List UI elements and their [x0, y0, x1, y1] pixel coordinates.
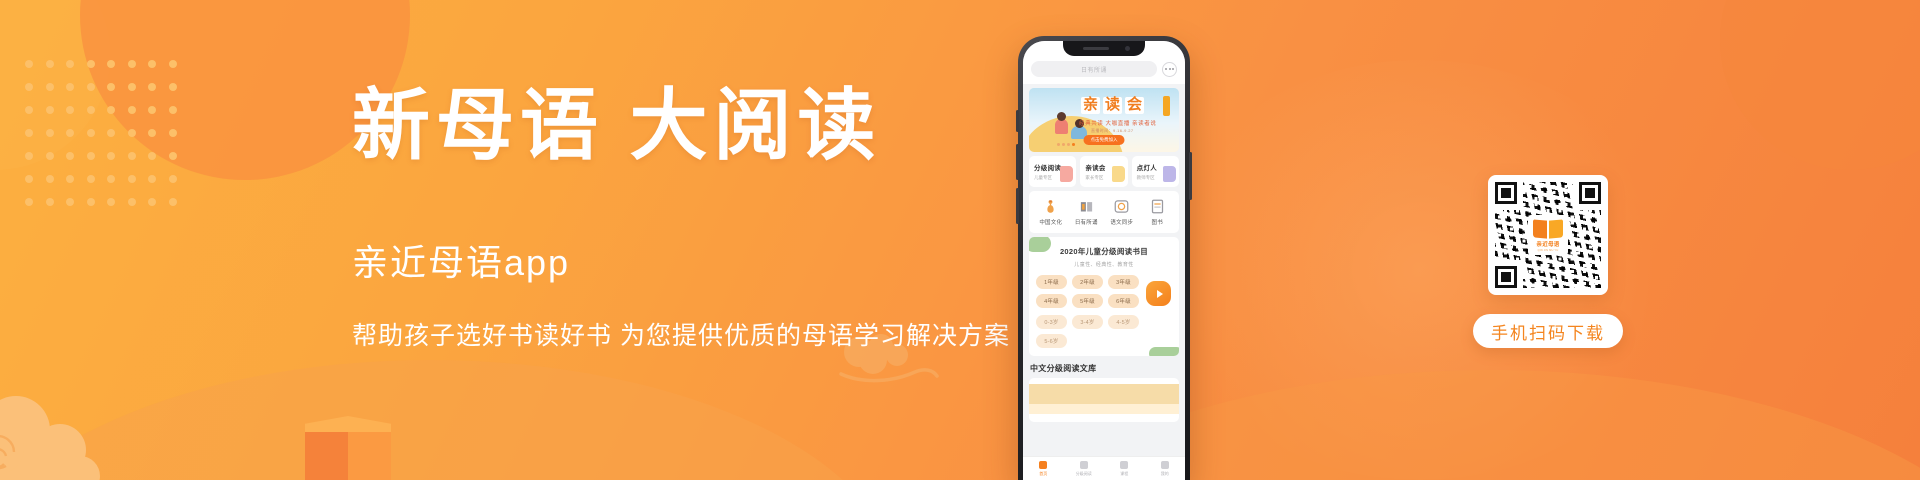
promo-title: 亲 读 会: [1081, 97, 1144, 114]
cloud-decoration-bottom-left: [0, 378, 158, 480]
promo-carousel[interactable]: 亲 读 会 经典共读 大咖直播 亲读者说 直播时间：9.16-9.27 点击免费…: [1029, 88, 1179, 152]
phone-volume-down-button: [1016, 188, 1019, 224]
dot-grid-decoration: [25, 60, 189, 221]
age-chip-row: 0-3岁 3-4岁 4-5岁 5-6岁: [1036, 315, 1172, 348]
phone-mute-button: [1016, 110, 1019, 132]
promo-banner: 新母语 大阅读 亲近母语app 帮助孩子选好书读好书 为您提供优质的母语学习解决…: [0, 0, 1920, 480]
qr-card[interactable]: 亲近母语 QIN JIN MU YU: [1488, 175, 1608, 295]
download-block: 亲近母语 QIN JIN MU YU 手机扫码下载: [1452, 175, 1644, 348]
tab-label: 课程: [1120, 471, 1128, 477]
grade-chip[interactable]: 6年级: [1108, 294, 1139, 308]
page-title: 新母语 大阅读: [352, 84, 1012, 168]
quick-link-daily-recitation[interactable]: 日有所诵: [1069, 199, 1103, 226]
hero-copy: 新母语 大阅读 亲近母语app 帮助孩子选好书读好书 为您提供优质的母语学习解决…: [352, 84, 1012, 352]
booklist-title: 2020年儿童分级阅读书目: [1036, 246, 1172, 257]
library-shelf[interactable]: [1029, 378, 1179, 422]
entry-card-reading-club[interactable]: 亲读会 家长专区: [1080, 156, 1127, 187]
grade-chip[interactable]: 3年级: [1108, 275, 1139, 289]
entry-card-graded-reading[interactable]: 分级阅读 儿童专区: [1029, 156, 1076, 187]
grade-chip[interactable]: 5年级: [1072, 294, 1103, 308]
tab-label: 分级阅读: [1076, 471, 1092, 477]
promo-title-char: 会: [1125, 97, 1144, 114]
book-icon: [1163, 166, 1176, 182]
quick-link-label: 图书: [1152, 218, 1163, 226]
background-circle-right: [1720, 0, 1920, 170]
book-page-icon: [1150, 199, 1165, 214]
background-hill-left: [0, 360, 900, 480]
quick-link-books[interactable]: 图书: [1140, 199, 1174, 226]
book-icon: [1112, 166, 1125, 182]
grade-chip[interactable]: 4年级: [1036, 294, 1067, 308]
leaf-decoration-top: [1029, 237, 1051, 252]
background-circle-far-left: [0, 0, 110, 170]
leaf-decoration-bottom: [1149, 347, 1179, 356]
grade-chip[interactable]: 1年级: [1036, 275, 1067, 289]
vase-icon: [1043, 199, 1058, 214]
tab-graded-reading[interactable]: 分级阅读: [1064, 457, 1105, 480]
cube-decoration: [305, 416, 391, 480]
quick-link-label: 中国文化: [1039, 218, 1062, 226]
download-button-label: 手机扫码下载: [1491, 319, 1605, 344]
phone-screen: 日有所诵 亲 读 会 经典共读 大咖直播 亲读者说 直播时间：9.16-9.27…: [1023, 41, 1185, 480]
phone-notch: [1063, 41, 1145, 56]
promo-date: 直播时间：9.16-9.27: [1091, 128, 1134, 134]
tab-courses[interactable]: 课程: [1104, 457, 1145, 480]
tab-home[interactable]: 首页: [1023, 457, 1064, 480]
brand-name-en: QIN JIN MU YU: [1538, 249, 1559, 252]
book-icon: [1060, 166, 1073, 182]
book-logo-icon: [1533, 219, 1563, 239]
entry-card-lamplighter[interactable]: 点灯人 教师专区: [1132, 156, 1179, 187]
more-dots-icon[interactable]: [1162, 62, 1177, 77]
tab-label: 首页: [1039, 471, 1047, 477]
brand-name: 亲近母语: [1536, 240, 1559, 248]
promo-cta-button[interactable]: 点击免费加入: [1084, 135, 1125, 145]
library-section-title: 中文分级阅读文库: [1030, 363, 1178, 374]
grade-chip[interactable]: 2年级: [1072, 275, 1103, 289]
age-chip[interactable]: 4-5岁: [1108, 315, 1139, 329]
entry-card-row: 分级阅读 儿童专区 亲读会 家长专区 点灯人 教师专区: [1029, 156, 1179, 187]
booklist-subtitle: 儿童性、经典性、教育性: [1036, 261, 1172, 268]
promo-child-left: [1055, 119, 1068, 134]
app-tabbar: 首页 分级阅读 课程 我的: [1023, 456, 1185, 480]
quick-link-label: 日有所诵: [1075, 218, 1098, 226]
circle-sync-icon: [1114, 199, 1129, 214]
phone-volume-up-button: [1016, 144, 1019, 180]
promo-vertical-badge: [1163, 96, 1170, 116]
quick-link-chinese-sync[interactable]: 语文同步: [1105, 199, 1139, 226]
app-name: 亲近母语app: [352, 234, 1012, 286]
age-chip[interactable]: 5-6岁: [1036, 334, 1067, 348]
carousel-dots[interactable]: [1057, 143, 1075, 146]
shelf-band: [1029, 384, 1179, 404]
search-input[interactable]: 日有所诵: [1031, 61, 1157, 77]
camera-icon: [1125, 46, 1130, 51]
play-video-icon[interactable]: [1146, 281, 1171, 306]
qr-code-icon: 亲近母语 QIN JIN MU YU: [1495, 182, 1601, 288]
hero-tagline: 帮助孩子选好书读好书 为您提供优质的母语学习解决方案: [352, 316, 1012, 352]
shelf-band-secondary: [1029, 404, 1179, 414]
tab-label: 我的: [1161, 471, 1169, 477]
quick-link-row: 中国文化 日有所诵 语文同步: [1029, 191, 1179, 233]
download-button[interactable]: 手机扫码下载: [1473, 314, 1623, 348]
age-chip[interactable]: 0-3岁: [1036, 315, 1067, 329]
promo-title-char: 读: [1103, 97, 1122, 114]
quick-link-chinese-culture[interactable]: 中国文化: [1034, 199, 1068, 226]
promo-title-char: 亲: [1081, 97, 1100, 114]
phone-mockup: 日有所诵 亲 读 会 经典共读 大咖直播 亲读者说 直播时间：9.16-9.27…: [1018, 36, 1190, 480]
search-placeholder: 日有所诵: [1081, 65, 1107, 74]
booklist-card: 2020年儿童分级阅读书目 儿童性、经典性、教育性 1年级 2年级 3年级 4年…: [1029, 237, 1179, 356]
brand-logo: 亲近母语 QIN JIN MU YU: [1528, 215, 1568, 255]
speaker-icon: [1083, 47, 1109, 50]
quick-link-label: 语文同步: [1110, 218, 1133, 226]
open-book-icon: [1079, 199, 1094, 214]
phone-power-button: [1189, 152, 1192, 200]
tab-mine[interactable]: 我的: [1145, 457, 1186, 480]
age-chip[interactable]: 3-4岁: [1072, 315, 1103, 329]
promo-subtitle: 经典共读 大咖直播 亲读者说: [1079, 119, 1156, 127]
